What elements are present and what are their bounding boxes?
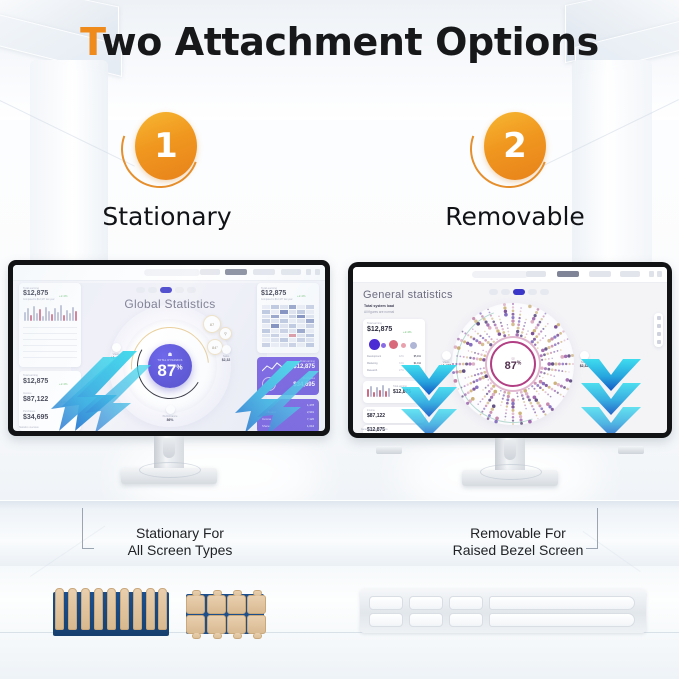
side-stat-value: $2,32 xyxy=(571,364,597,368)
side-stat-sales[interactable]: Sales $2,32 xyxy=(571,351,597,368)
time-range-segmented[interactable] xyxy=(136,287,196,293)
title-accent-letter: T xyxy=(80,20,101,64)
search-input[interactable] xyxy=(472,271,528,278)
card-label: Total earning xyxy=(23,374,38,377)
right-monitor-card-2[interactable]: Total earning $12,875 xyxy=(363,381,425,403)
row-value: $3,372 xyxy=(414,369,421,372)
screen-right: General statistics Total system load All… xyxy=(353,267,667,433)
side-stat-value: +1,478 xyxy=(433,364,459,368)
clip-bar xyxy=(360,589,646,633)
nav-item-solutions[interactable] xyxy=(526,271,546,277)
card-value: $12,875 xyxy=(367,326,392,333)
card-label: Total earning xyxy=(367,322,382,325)
caption-line-2: All Screen Types xyxy=(55,542,305,559)
dashboard-subtitle-right: Total system load xyxy=(364,304,394,308)
seg-1y[interactable] xyxy=(160,287,172,293)
card-value: $12,875 xyxy=(261,290,286,297)
monitor-bezel-left: Global Statistics ☗ TOTAL DYNAMICS 87% 8… xyxy=(8,260,330,436)
target-icon xyxy=(222,345,231,354)
gear-icon[interactable] xyxy=(657,324,661,328)
table-row xyxy=(23,357,77,358)
table-row xyxy=(23,345,77,346)
avatar[interactable] xyxy=(657,271,662,277)
heatmap xyxy=(262,305,314,347)
card-delta: +1.8% xyxy=(59,400,68,404)
nav-item-solutions[interactable] xyxy=(200,269,220,275)
seg-1w[interactable] xyxy=(136,287,145,293)
bubble-search-icon[interactable]: ⚲ xyxy=(219,327,232,340)
badge-number-1: 1 xyxy=(154,129,178,163)
side-stat-value: $2,32 xyxy=(213,358,239,362)
card-label: Income xyxy=(367,409,375,412)
table-row xyxy=(23,351,77,352)
option-label-1: Stationary xyxy=(17,202,317,231)
time-range-segmented[interactable] xyxy=(489,289,549,295)
gear-icon xyxy=(166,405,175,414)
table-row xyxy=(23,333,77,334)
card-value: $12,875 xyxy=(23,290,48,297)
gauge-core-right: ☉ 87% xyxy=(490,341,536,387)
nav-item-dashboard[interactable] xyxy=(253,269,275,275)
seg-1y[interactable] xyxy=(513,289,525,295)
card-delta: +2.4% xyxy=(297,294,306,298)
dashboard-subtitle2-right: All figures are normal xyxy=(364,310,394,314)
row-pct: 31% xyxy=(399,362,404,365)
caption-line-1: Stationary For xyxy=(55,525,305,542)
nav-item-analytics[interactable] xyxy=(620,271,640,277)
right-panel-purple-card-2[interactable]: Views Dashboard Income Shares 1,478 2,90… xyxy=(257,399,319,431)
card-value: $34,695 xyxy=(293,382,315,388)
pad-grid xyxy=(182,590,268,638)
card-label: Total earning xyxy=(300,360,315,363)
table-row xyxy=(23,327,77,328)
comb-strip-base xyxy=(53,592,169,636)
option-badge-1: 1 xyxy=(119,108,215,186)
card-label: Purchases xyxy=(303,377,315,380)
dashboard-title-right: General statistics xyxy=(363,289,453,301)
menu-icon[interactable] xyxy=(657,316,661,320)
dashboard-topbar-right xyxy=(353,267,667,283)
chart-icon xyxy=(112,343,121,352)
row-pct: 42% xyxy=(399,355,404,358)
seg-1w[interactable] xyxy=(489,289,498,295)
card-delta: +2.4% xyxy=(59,294,68,298)
card-value: $87,122 xyxy=(367,413,385,419)
bubble-chart-dot xyxy=(401,343,406,348)
monitor-removable: General statistics Total system load All… xyxy=(348,262,672,450)
right-monitor-card-1[interactable]: Total earning $12,875 +2.4% Development … xyxy=(363,319,425,377)
seg-1m[interactable] xyxy=(501,289,510,295)
card-label: Purchases xyxy=(23,410,35,413)
dashboard-footer-left: Statistics overview xyxy=(19,426,39,429)
caption-line-1: Removable For xyxy=(393,525,643,542)
dashboard-title-left: Global Statistics xyxy=(91,297,249,311)
page-title: Two Attachment Options xyxy=(0,20,679,64)
bar-chart xyxy=(24,305,77,321)
right-panel-card-1[interactable]: Total earning $12,875 +2.4% Compared to … xyxy=(257,283,319,353)
left-panel-card-1[interactable]: Total earning $12,875 +2.4% Compared to … xyxy=(19,283,81,367)
nav-item-dashboard[interactable] xyxy=(589,271,611,277)
side-stat-value: +1,478 xyxy=(103,356,129,360)
bubble-chart-dot xyxy=(369,339,380,350)
screen-left: Global Statistics ☗ TOTAL DYNAMICS 87% 8… xyxy=(13,265,325,431)
bell-icon[interactable] xyxy=(649,271,654,277)
right-vertical-toolbar[interactable] xyxy=(654,313,663,347)
card-value: $12,875 xyxy=(293,364,315,370)
right-monitor-card-3[interactable]: Income $87,122 xyxy=(363,407,425,423)
caption-stationary: Stationary For All Screen Types xyxy=(55,525,305,559)
dashboard-footer-right: General system statistics xyxy=(361,428,388,431)
bubble-chart-dot xyxy=(410,342,417,349)
gauge-value-left: 87% xyxy=(157,362,182,379)
target-icon xyxy=(580,351,589,360)
bubble-stat-1[interactable]: 87 xyxy=(203,315,221,333)
seg-all[interactable] xyxy=(540,289,549,295)
card-delta: +2.4% xyxy=(403,330,412,334)
home-icon: ☗ xyxy=(168,353,172,358)
title-rest: wo Attachment Options xyxy=(102,20,599,64)
card-note: Compared to $12,187 last year xyxy=(23,299,55,301)
side-stat-views[interactable]: Views +1,478 xyxy=(103,343,129,360)
bubble-chart-dot xyxy=(389,340,398,349)
side-stat-performance[interactable]: Performance 86% xyxy=(155,405,185,422)
card-value: $34,695 xyxy=(23,414,48,421)
seg-1m[interactable] xyxy=(148,287,157,293)
card-delta: +2.4% xyxy=(59,382,68,386)
attachment-arrows-right-2 xyxy=(573,359,659,433)
badge-circle-2: 2 xyxy=(484,112,546,180)
caption-removable: Removable For Raised Bezel Screen xyxy=(393,525,643,559)
side-stat-views[interactable]: Views +1,478 xyxy=(433,351,459,368)
seg-all[interactable] xyxy=(187,287,196,293)
gauge-left: ☗ TOTAL DYNAMICS 87% xyxy=(131,327,209,405)
dashboard-topbar-left xyxy=(13,265,325,281)
monitor-stationary: Global Statistics ☗ TOTAL DYNAMICS 87% 8… xyxy=(8,260,330,450)
screenshot-root: Two Attachment Options 1 Stationary 2 Re… xyxy=(0,0,679,679)
nav-item-overview[interactable] xyxy=(225,269,247,275)
bubble-chart-dot xyxy=(381,343,386,348)
monitor-stand-base-right xyxy=(462,470,558,486)
row-name: Marketing xyxy=(367,362,378,365)
nav-item-analytics[interactable] xyxy=(281,269,301,275)
row-name: Development xyxy=(367,355,381,358)
card-value: $87,122 xyxy=(23,396,48,403)
option-badge-2: 2 xyxy=(468,108,564,186)
card-label: Income xyxy=(23,392,32,395)
row-value: $4,012 xyxy=(414,362,421,365)
bell-icon[interactable] xyxy=(306,269,311,275)
share-icon[interactable] xyxy=(657,340,661,344)
card-note: Compared to $12,187 last year xyxy=(261,299,293,301)
right-panel-purple-card-1[interactable]: Total earning $12,875 Purchases $34,695 xyxy=(257,357,319,395)
option-label-2: Removable xyxy=(365,202,665,231)
donut-icon xyxy=(262,377,276,391)
card-label: Total earning xyxy=(393,385,407,388)
left-panel-card-2[interactable]: Total earning $12,875 +2.4% Income $87,1… xyxy=(19,371,81,431)
chart-icon xyxy=(442,351,451,360)
row-name: Research xyxy=(367,369,377,372)
nav-item-overview[interactable] xyxy=(557,271,579,277)
monitor-bezel-right: General statistics Total system load All… xyxy=(348,262,672,438)
side-stat-sales[interactable]: Sales $2,32 xyxy=(213,345,239,362)
row-value: $5,491 xyxy=(414,355,421,358)
row-pct: 27% xyxy=(399,369,404,372)
seg-5y[interactable] xyxy=(175,287,184,293)
badge-circle-1: 1 xyxy=(135,112,197,180)
side-stat-value: 86% xyxy=(155,418,185,422)
caption-line-2: Raised Bezel Screen xyxy=(393,542,643,559)
card-value: $12,875 xyxy=(23,378,48,385)
expand-icon[interactable] xyxy=(657,332,661,336)
removable-clip-right xyxy=(618,446,644,454)
gauge-value-right: 87% xyxy=(505,361,522,372)
removable-clip-left xyxy=(376,446,402,454)
sparkline-icon xyxy=(262,361,288,373)
gauge-core-left: ☗ TOTAL DYNAMICS 87% xyxy=(148,344,192,388)
avatar[interactable] xyxy=(315,269,320,275)
gauge-sublabel: TOTAL DYNAMICS xyxy=(157,359,182,362)
mini-bar-chart xyxy=(367,385,390,397)
seg-5y[interactable] xyxy=(528,289,537,295)
table-row xyxy=(23,339,77,340)
radial-dot-chart: ☉ 87% xyxy=(448,299,578,429)
badge-number-2: 2 xyxy=(503,129,527,163)
monitor-stand-base-left xyxy=(121,468,217,484)
search-input[interactable] xyxy=(144,269,200,276)
card-value: $12,875 xyxy=(393,389,411,395)
